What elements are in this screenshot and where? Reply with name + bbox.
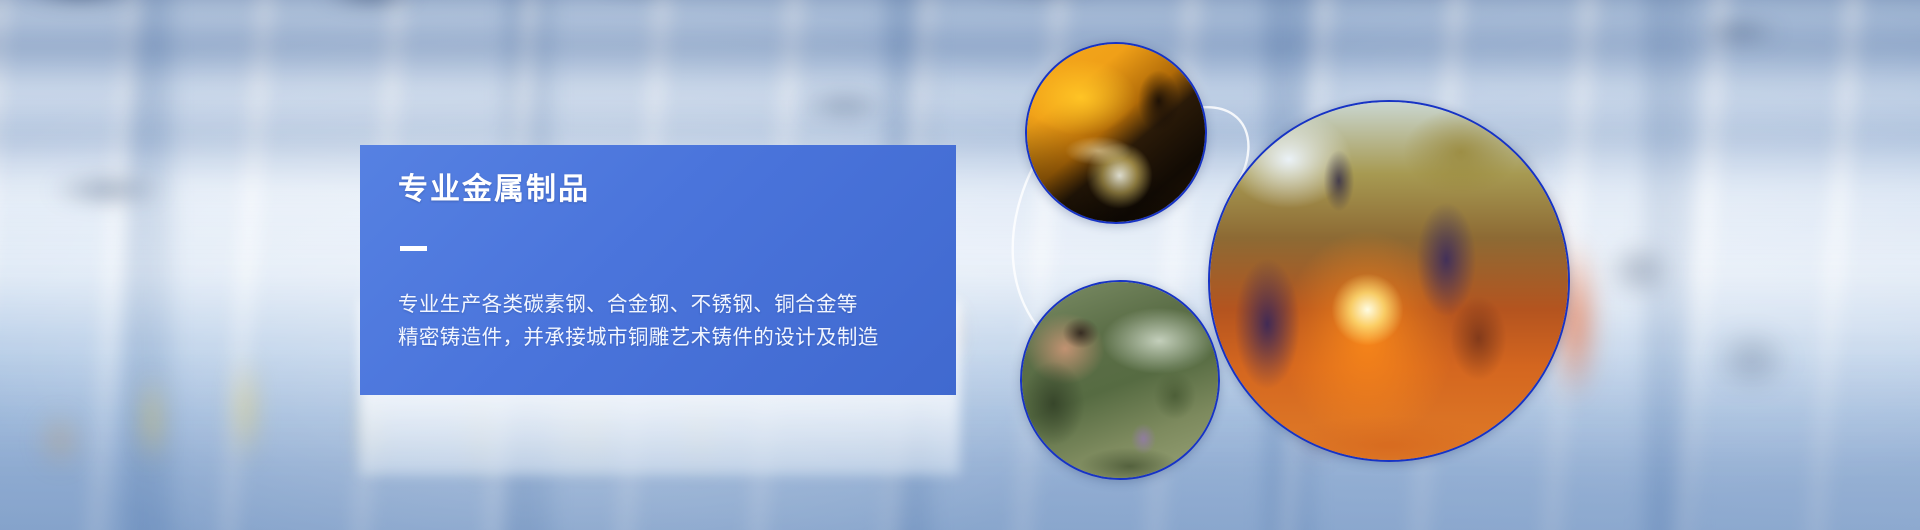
title-divider (400, 246, 427, 251)
foundry-pour-photo (1210, 102, 1568, 460)
hero-banner: 专业金属制品 专业生产各类碳素钢、合金钢、不锈钢、铜合金等 精密铸造件，并承接城… (0, 0, 1920, 530)
page-title: 专业金属制品 (398, 173, 956, 208)
inspection-photo (1022, 282, 1218, 478)
description-line-1: 专业生产各类碳素钢、合金钢、不锈钢、铜合金等 (398, 288, 956, 321)
page-description: 专业生产各类碳素钢、合金钢、不锈钢、铜合金等 精密铸造件，并承接城市铜雕艺术铸件… (398, 288, 956, 354)
photo-circle-inspection[interactable] (1020, 280, 1220, 480)
photo-circle-welding[interactable] (1025, 42, 1207, 224)
background-haze-overlay (0, 0, 1920, 530)
headline-panel-content: 专业金属制品 专业生产各类碳素钢、合金钢、不锈钢、铜合金等 精密铸造件，并承接城… (360, 145, 956, 354)
photo-circle-foundry-pour[interactable] (1208, 100, 1570, 462)
description-line-2: 精密铸造件，并承接城市铜雕艺术铸件的设计及制造 (398, 321, 956, 354)
headline-panel: 专业金属制品 专业生产各类碳素钢、合金钢、不锈钢、铜合金等 精密铸造件，并承接城… (360, 145, 956, 395)
welding-photo (1027, 44, 1205, 222)
